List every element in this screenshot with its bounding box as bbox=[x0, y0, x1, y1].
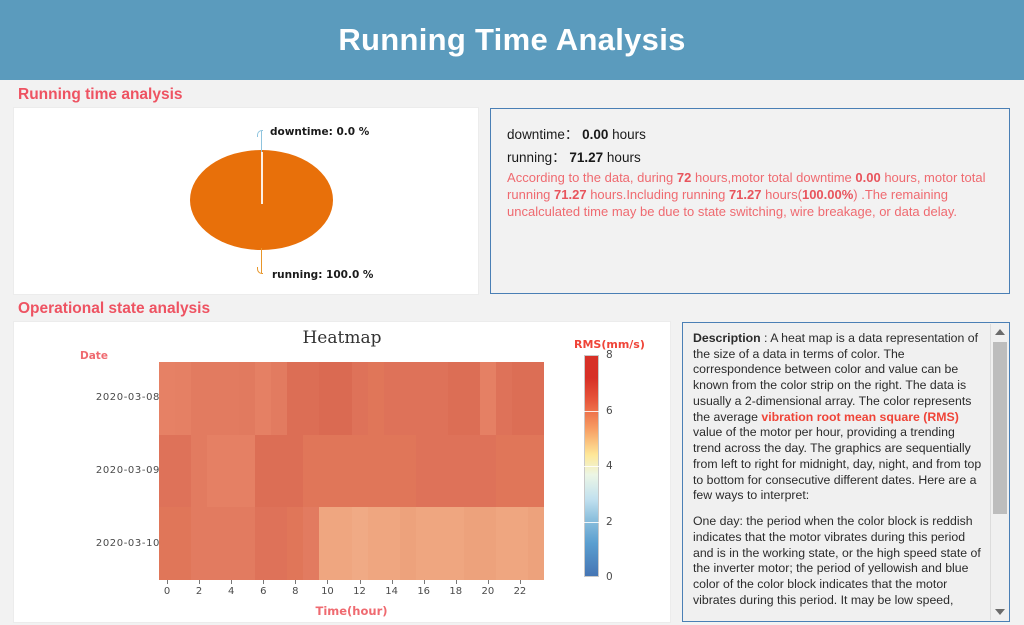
heatmap-cell bbox=[496, 507, 512, 580]
section-title-operational-state: Operational state analysis bbox=[18, 300, 1024, 318]
heatmap-cell bbox=[464, 507, 480, 580]
operational-state-row: Heatmap Date 2020-03-082020-03-092020-03… bbox=[0, 322, 1024, 622]
heatmap-cell bbox=[384, 362, 400, 435]
summary-running-value: 71.27 bbox=[569, 150, 603, 165]
heatmap-cell bbox=[175, 362, 191, 435]
heatmap-yaxis-labels: 2020-03-082020-03-092020-03-10 bbox=[60, 362, 160, 580]
heatmap-cell bbox=[239, 507, 255, 580]
heatmap-cell bbox=[432, 435, 448, 508]
heatmap-cell bbox=[287, 435, 303, 508]
heatmap-ytick-label: 2020-03-09 bbox=[96, 465, 160, 476]
heatmap-cell bbox=[400, 435, 416, 508]
description-label: Description bbox=[693, 331, 761, 345]
pie-label-downtime: downtime: 0.0 % bbox=[270, 126, 369, 138]
heatmap-cell bbox=[271, 507, 287, 580]
heatmap-cell bbox=[287, 362, 303, 435]
heatmap-cell bbox=[207, 362, 223, 435]
heatmap-row bbox=[159, 362, 544, 435]
summary-running-label: running： bbox=[507, 150, 566, 165]
heatmap-cell bbox=[368, 362, 384, 435]
heatmap-xtick-label: 8 bbox=[292, 586, 298, 597]
heatmap-xtick-label: 12 bbox=[353, 586, 366, 597]
heatmap-xtick bbox=[488, 580, 489, 584]
heatmap-xtick bbox=[520, 580, 521, 584]
heatmap-xtick-label: 14 bbox=[385, 586, 398, 597]
heatmap-cell bbox=[159, 435, 175, 508]
scroll-down-icon[interactable] bbox=[991, 604, 1008, 620]
heatmap-cell bbox=[319, 435, 335, 508]
heatmap-cell bbox=[223, 362, 239, 435]
heatmap-cell bbox=[175, 507, 191, 580]
heatmap-xtick-label: 20 bbox=[481, 586, 494, 597]
heatmap-xtick bbox=[456, 580, 457, 584]
heatmap-title: Heatmap bbox=[14, 328, 670, 348]
heatmap-grid bbox=[159, 362, 544, 580]
scrollbar-thumb[interactable] bbox=[993, 342, 1007, 514]
heatmap-cell bbox=[432, 362, 448, 435]
heatmap-cell bbox=[480, 362, 496, 435]
colorbar-tick-label: 2 bbox=[606, 516, 613, 528]
description-separator: : bbox=[761, 331, 771, 345]
heatmap-cell bbox=[336, 435, 352, 508]
heatmap-cell bbox=[528, 435, 544, 508]
summary-running-unit: hours bbox=[607, 150, 641, 165]
heatmap-xtick bbox=[295, 580, 296, 584]
app-header: Running Time Analysis bbox=[0, 0, 1024, 80]
pie-leader-hook-downtime bbox=[257, 130, 263, 137]
heatmap-cell bbox=[352, 435, 368, 508]
heatmap-xtick bbox=[360, 580, 361, 584]
heatmap-cell bbox=[303, 435, 319, 508]
pie-label-running: running: 100.0 % bbox=[272, 269, 373, 281]
colorbar-separator bbox=[584, 466, 599, 467]
heatmap-cell bbox=[464, 435, 480, 508]
heatmap-cell bbox=[496, 362, 512, 435]
heatmap-cell bbox=[191, 362, 207, 435]
pie-leader-hook-running bbox=[257, 267, 263, 274]
note-total-hours: 72 bbox=[677, 170, 691, 185]
heatmap-row bbox=[159, 507, 544, 580]
summary-downtime-value: 0.00 bbox=[582, 127, 608, 142]
heatmap-cell bbox=[191, 435, 207, 508]
summary-downtime-unit: hours bbox=[612, 127, 646, 142]
description-card: Description : A heat map is a data repre… bbox=[682, 322, 1010, 622]
note-running-hours: 71.27 bbox=[554, 187, 587, 202]
heatmap-cell bbox=[352, 362, 368, 435]
heatmap-cell bbox=[528, 362, 544, 435]
heatmap-cell bbox=[319, 362, 335, 435]
heatmap-cell bbox=[159, 507, 175, 580]
heatmap-xtick-label: 10 bbox=[321, 586, 334, 597]
description-paragraph-1: Description : A heat map is a data repre… bbox=[693, 331, 985, 504]
heatmap-cell bbox=[368, 435, 384, 508]
note-running-hours-2: 71.27 bbox=[729, 187, 762, 202]
heatmap-xtick-label: 22 bbox=[514, 586, 527, 597]
heatmap-cell bbox=[448, 507, 464, 580]
summary-downtime-label: downtime： bbox=[507, 127, 578, 142]
heatmap-xtick-label: 2 bbox=[196, 586, 202, 597]
note-part-5: hours( bbox=[762, 187, 802, 202]
heatmap-cell bbox=[303, 362, 319, 435]
heatmap-xaxis-title: Time(hour) bbox=[159, 604, 544, 618]
running-time-summary-card: downtime： 0.00 hours running： 71.27 hour… bbox=[490, 108, 1010, 294]
colorbar-tick-label: 0 bbox=[606, 571, 613, 583]
note-downtime-hours: 0.00 bbox=[855, 170, 880, 185]
heatmap-cell bbox=[207, 435, 223, 508]
running-time-pie-card: downtime: 0.0 % running: 100.0 % bbox=[14, 108, 478, 294]
heatmap-xtick bbox=[392, 580, 393, 584]
heatmap-xtick-label: 18 bbox=[449, 586, 462, 597]
heatmap-cell bbox=[384, 435, 400, 508]
summary-downtime-line: downtime： 0.00 hours bbox=[507, 123, 993, 143]
heatmap-cell bbox=[448, 362, 464, 435]
heatmap-xtick bbox=[231, 580, 232, 584]
heatmap-cell bbox=[175, 435, 191, 508]
note-part-1: According to the data, during bbox=[507, 170, 677, 185]
description-text: Description : A heat map is a data repre… bbox=[693, 331, 985, 617]
heatmap-cell bbox=[448, 435, 464, 508]
heatmap-cell bbox=[223, 507, 239, 580]
colorbar-separator bbox=[584, 522, 599, 523]
heatmap-cell bbox=[159, 362, 175, 435]
heatmap-xtick bbox=[263, 580, 264, 584]
description-paragraph-2: One day: the period when the color block… bbox=[693, 514, 985, 608]
heatmap-cell bbox=[255, 362, 271, 435]
heatmap-xtick-label: 6 bbox=[260, 586, 266, 597]
heatmap-cell bbox=[528, 507, 544, 580]
note-running-percent: 100.00% bbox=[802, 187, 853, 202]
running-time-row: downtime: 0.0 % running: 100.0 % downtim… bbox=[0, 108, 1024, 294]
heatmap-cell bbox=[223, 435, 239, 508]
heatmap-cell bbox=[303, 507, 319, 580]
heatmap-xaxis: 0246810121416182022 bbox=[159, 580, 544, 606]
heatmap-cell bbox=[496, 435, 512, 508]
heatmap-xtick bbox=[199, 580, 200, 584]
heatmap-cell bbox=[255, 507, 271, 580]
section-title-running-time: Running time analysis bbox=[18, 86, 1024, 104]
heatmap-xtick-label: 0 bbox=[164, 586, 170, 597]
heatmap-cell bbox=[416, 507, 432, 580]
heatmap-xtick bbox=[424, 580, 425, 584]
heatmap-cell bbox=[400, 362, 416, 435]
heatmap-cell bbox=[319, 507, 335, 580]
heatmap-cell bbox=[255, 435, 271, 508]
colorbar-separator bbox=[584, 411, 599, 412]
heatmap-cell bbox=[368, 507, 384, 580]
description-p1-b: value of the motor per hour, providing a… bbox=[693, 425, 981, 502]
heatmap-cell bbox=[512, 362, 528, 435]
colorbar-tick-label: 8 bbox=[606, 349, 613, 361]
heatmap-card: Heatmap Date 2020-03-082020-03-092020-03… bbox=[14, 322, 670, 622]
description-scrollbar[interactable] bbox=[990, 324, 1008, 620]
heatmap-cell bbox=[271, 362, 287, 435]
heatmap-cell bbox=[191, 507, 207, 580]
heatmap-cell bbox=[271, 435, 287, 508]
heatmap-cell bbox=[384, 507, 400, 580]
heatmap-cell bbox=[416, 435, 432, 508]
note-part-2: hours,motor total downtime bbox=[691, 170, 855, 185]
page-title: Running Time Analysis bbox=[338, 22, 685, 58]
heatmap-row bbox=[159, 435, 544, 508]
heatmap-yaxis-name: Date bbox=[80, 350, 108, 362]
heatmap-cell bbox=[207, 507, 223, 580]
scroll-up-icon[interactable] bbox=[991, 324, 1008, 340]
heatmap-xtick bbox=[327, 580, 328, 584]
pie-slice-divider bbox=[261, 152, 263, 204]
note-part-4: hours.Including running bbox=[587, 187, 729, 202]
heatmap-cell bbox=[287, 507, 303, 580]
heatmap-cell bbox=[480, 435, 496, 508]
colorbar-tick-label: 6 bbox=[606, 405, 613, 417]
summary-running-line: running： 71.27 hours bbox=[507, 146, 993, 166]
pie-chart: downtime: 0.0 % running: 100.0 % bbox=[14, 108, 478, 294]
heatmap-cell bbox=[239, 435, 255, 508]
heatmap-cell bbox=[400, 507, 416, 580]
heatmap-cell bbox=[336, 362, 352, 435]
heatmap-cell bbox=[336, 507, 352, 580]
heatmap-cell bbox=[416, 362, 432, 435]
heatmap-ytick-label: 2020-03-10 bbox=[96, 538, 160, 549]
heatmap-cell bbox=[432, 507, 448, 580]
heatmap-xtick-label: 4 bbox=[228, 586, 234, 597]
heatmap-cell bbox=[352, 507, 368, 580]
colorbar-tick-label: 4 bbox=[606, 460, 613, 472]
heatmap-ytick-label: 2020-03-08 bbox=[96, 392, 160, 403]
heatmap-xtick-label: 16 bbox=[417, 586, 430, 597]
summary-note: According to the data, during 72 hours,m… bbox=[507, 169, 993, 220]
heatmap-cell bbox=[480, 507, 496, 580]
heatmap-cell bbox=[239, 362, 255, 435]
heatmap-cell bbox=[512, 435, 528, 508]
heatmap-cell bbox=[512, 507, 528, 580]
heatmap-xtick bbox=[167, 580, 168, 584]
heatmap-cell bbox=[464, 362, 480, 435]
description-highlight-rms: vibration root mean square (RMS) bbox=[761, 410, 958, 424]
